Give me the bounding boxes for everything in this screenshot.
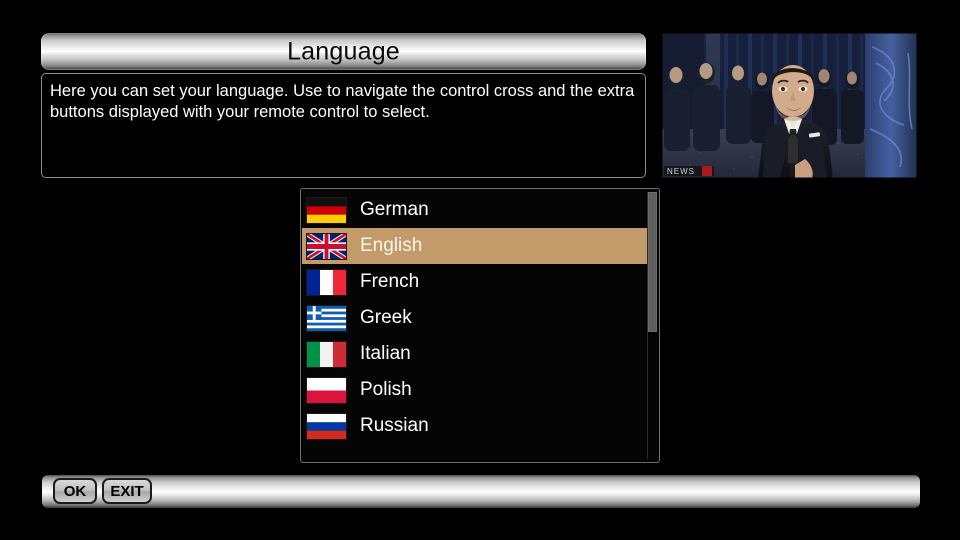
list-item-polish[interactable]: Polish xyxy=(302,372,647,408)
flag-greece-icon xyxy=(306,305,347,332)
flag-italy-icon xyxy=(306,341,347,368)
list-item-label: Italian xyxy=(360,343,411,365)
list-item-german[interactable]: German xyxy=(302,192,647,228)
ok-button[interactable]: OK xyxy=(53,478,97,504)
video-frame-icon: NEWS xyxy=(662,33,917,178)
tv-osd-screen: Language Here you can set your language.… xyxy=(0,0,960,540)
svg-text:NEWS: NEWS xyxy=(667,167,695,176)
description-panel: Here you can set your language. Use to n… xyxy=(41,73,646,178)
flag-united-kingdom-icon xyxy=(306,233,347,260)
title-bar: Language xyxy=(41,33,646,70)
description-text: Here you can set your language. Use to n… xyxy=(50,81,636,123)
page-title: Language xyxy=(41,37,646,66)
list-item-label: English xyxy=(360,235,422,257)
flag-russia-icon xyxy=(306,413,347,440)
list-item-label: Polish xyxy=(360,379,412,401)
list-item-label: Russian xyxy=(360,415,429,437)
scrollbar-thumb[interactable] xyxy=(648,192,657,332)
list-item-french[interactable]: French xyxy=(302,264,647,300)
list-item-greek[interactable]: Greek xyxy=(302,300,647,336)
flag-poland-icon xyxy=(306,377,347,404)
list-item-russian[interactable]: Russian xyxy=(302,408,647,444)
flag-france-icon xyxy=(306,269,347,296)
flag-germany-icon xyxy=(306,197,347,224)
list-item-italian[interactable]: Italian xyxy=(302,336,647,372)
language-list[interactable]: German English xyxy=(302,192,647,444)
list-item-label: Greek xyxy=(360,307,412,329)
live-tv-preview[interactable]: NEWS xyxy=(662,33,917,178)
list-item-label: French xyxy=(360,271,419,293)
scrollbar[interactable] xyxy=(647,192,657,459)
exit-button[interactable]: EXIT xyxy=(102,478,152,504)
language-list-panel[interactable]: German English xyxy=(300,188,660,463)
list-item-english[interactable]: English xyxy=(302,228,647,264)
footer-bar: OK EXIT xyxy=(42,475,920,508)
list-item-label: German xyxy=(360,199,429,221)
